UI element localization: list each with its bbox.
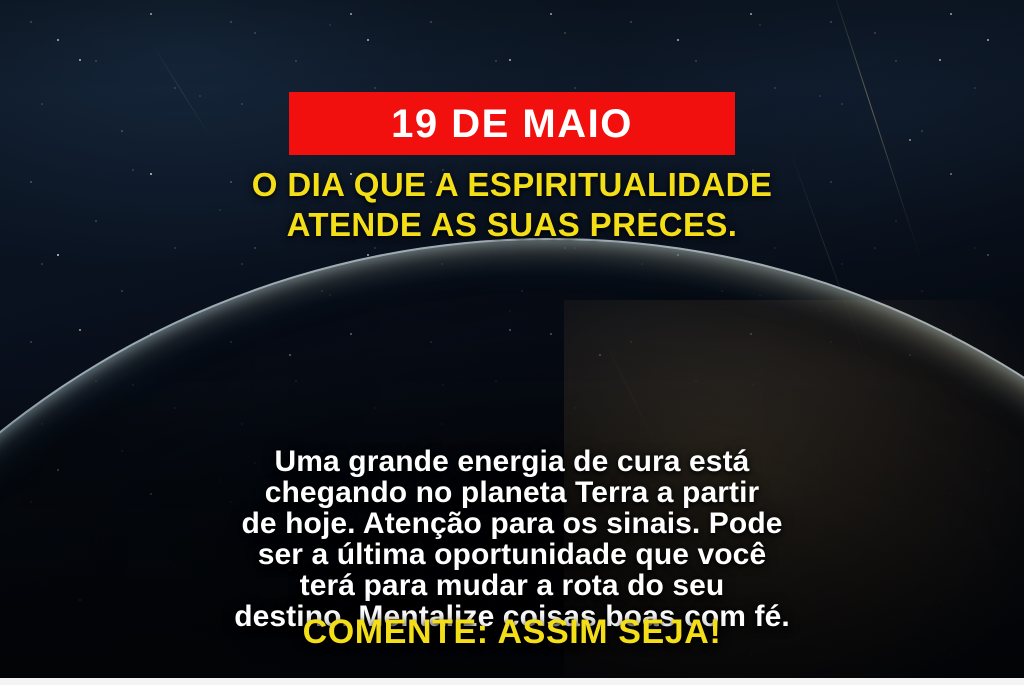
headline: O DIA QUE A ESPIRITUALIDADE ATENDE AS SU… (0, 165, 1024, 245)
poster-content: 19 DE MAIO O DIA QUE A ESPIRITUALIDADE A… (0, 0, 1024, 685)
headline-line-2: ATENDE AS SUAS PRECES. (0, 205, 1024, 245)
bottom-edge-strip (0, 678, 1024, 685)
body-line-2: chegando no planeta Terra a partir (0, 477, 1024, 508)
body-line-3: de hoje. Atenção para os sinais. Pode (0, 508, 1024, 539)
date-banner: 19 DE MAIO (289, 92, 735, 155)
body-line-4: ser a última oportunidade que você (0, 539, 1024, 570)
body-paragraph: Uma grande energia de cura está chegando… (0, 446, 1024, 632)
body-line-5: terá para mudar a rota do seu (0, 570, 1024, 601)
headline-line-1: O DIA QUE A ESPIRITUALIDADE (0, 165, 1024, 205)
date-banner-label: 19 DE MAIO (391, 104, 633, 144)
call-to-action-text: COMENTE: ASSIM SEJA! (0, 614, 1024, 651)
poster-canvas: 19 DE MAIO O DIA QUE A ESPIRITUALIDADE A… (0, 0, 1024, 685)
body-line-1: Uma grande energia de cura está (0, 446, 1024, 477)
